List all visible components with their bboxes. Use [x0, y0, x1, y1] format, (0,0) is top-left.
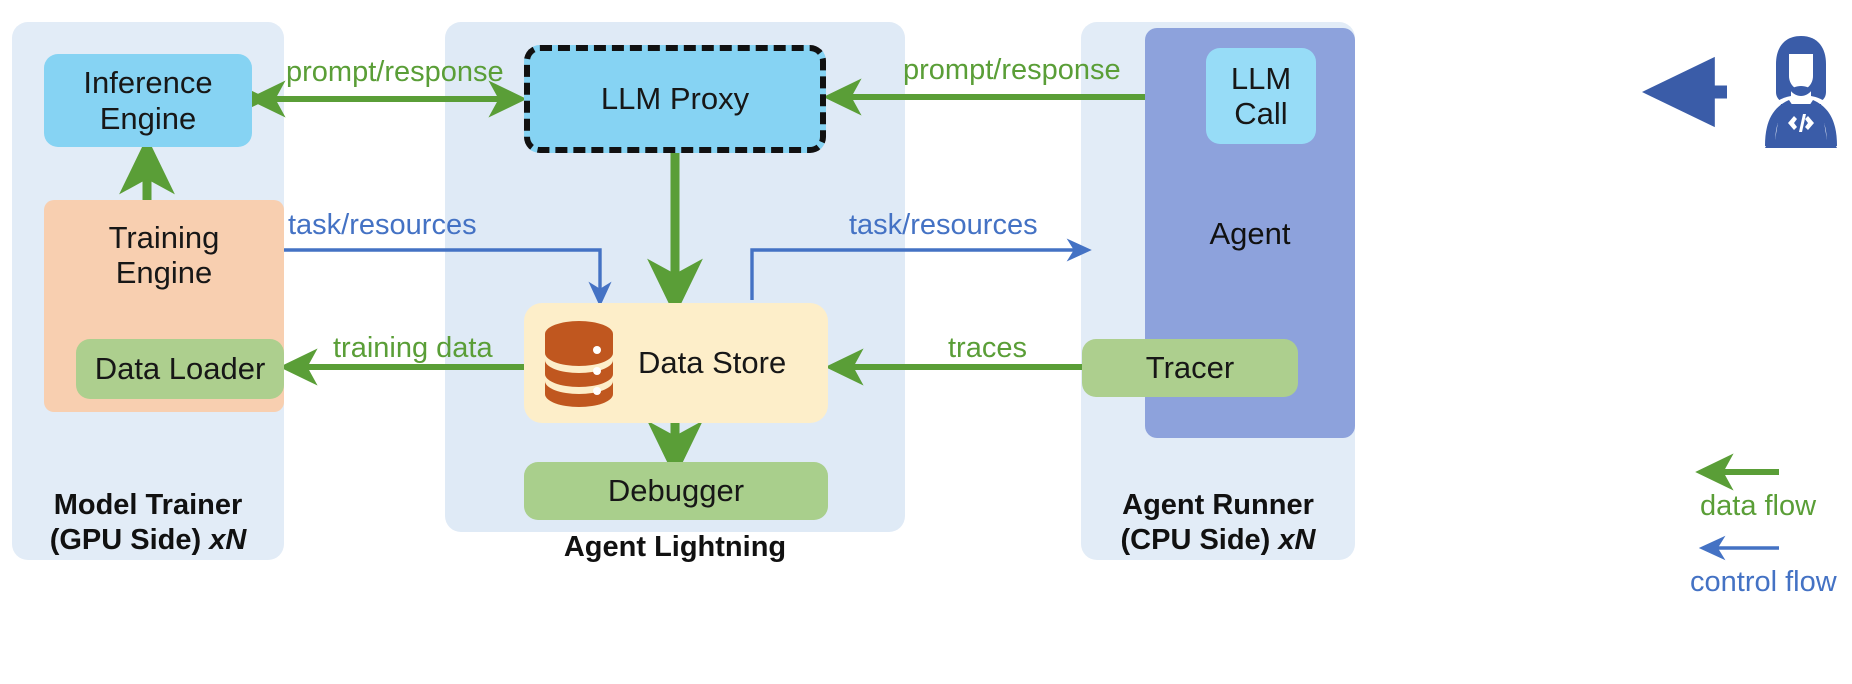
caption-model-trainer-multiplier: xN [209, 524, 246, 556]
edge-label-traces: traces [948, 332, 1027, 365]
caption-model-trainer: Model Trainer (GPU Side) xN [12, 488, 284, 559]
node-llm-call[interactable]: LLM Call [1206, 48, 1316, 144]
debugger-label: Debugger [608, 473, 744, 508]
edge-label-task-resources-left: task/resources [288, 209, 477, 242]
data-loader-label: Data Loader [95, 351, 266, 386]
llm-call-label-line2: Call [1234, 96, 1287, 131]
node-data-loader[interactable]: Data Loader [76, 339, 284, 399]
caption-agent-runner-multiplier: xN [1278, 524, 1315, 556]
caption-model-trainer-line1: Model Trainer [12, 488, 284, 523]
node-llm-proxy[interactable]: LLM Proxy [524, 45, 826, 153]
caption-agent-runner-line1: Agent Runner [1081, 488, 1355, 523]
data-store-label: Data Store [638, 345, 786, 380]
node-tracer[interactable]: Tracer [1082, 339, 1298, 397]
agent-label: Agent [1145, 216, 1355, 252]
database-icon [540, 317, 618, 409]
inference-engine-label-line1: Inference [83, 65, 212, 100]
caption-agent-runner: Agent Runner (CPU Side) xN [1081, 488, 1355, 559]
edge-label-training-data: training data [333, 332, 493, 365]
edge-label-task-resources-right: task/resources [849, 209, 1038, 242]
node-debugger[interactable]: Debugger [524, 462, 828, 520]
training-engine-label-line2: Engine [116, 255, 213, 290]
llm-call-label-line1: LLM [1231, 61, 1291, 96]
caption-model-trainer-line2: (GPU Side) xN [12, 523, 284, 558]
architecture-diagram: Inference Engine Training Engine Data Lo… [0, 0, 1852, 684]
caption-agent-runner-line2: (CPU Side) xN [1081, 523, 1355, 558]
training-engine-label-line1: Training [109, 220, 220, 255]
legend-label-data-flow: data flow [1700, 490, 1816, 523]
developer-icon [1755, 32, 1847, 150]
inference-engine-label-line2: Engine [100, 101, 197, 136]
edge-label-prompt-response-right: prompt/response [903, 54, 1121, 87]
tracer-label: Tracer [1146, 350, 1234, 385]
edge-label-prompt-response-left: prompt/response [286, 56, 504, 89]
caption-agent-lightning: Agent Lightning [445, 530, 905, 565]
llm-proxy-label: LLM Proxy [601, 81, 749, 116]
caption-agent-lightning-text: Agent Lightning [445, 530, 905, 565]
node-data-store[interactable]: Data Store [524, 303, 828, 423]
legend-label-control-flow: control flow [1690, 566, 1837, 599]
node-inference-engine[interactable]: Inference Engine [44, 54, 252, 147]
